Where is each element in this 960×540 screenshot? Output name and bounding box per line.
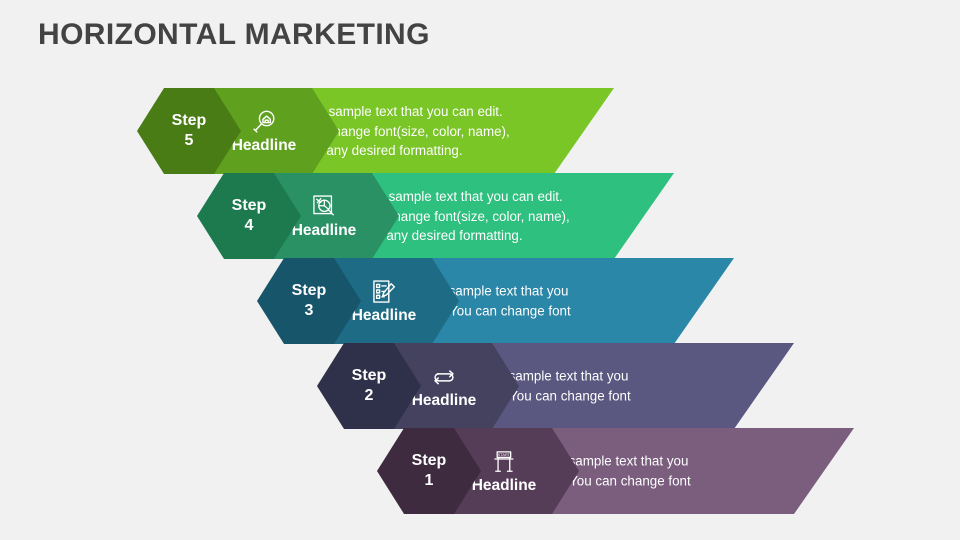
pyramid-diagram: This is a sample text that you can edit.… <box>0 0 960 540</box>
pyramid-row[interactable]: This is a sample text that you can edit.… <box>137 88 614 174</box>
pyramid-row[interactable]: This is a sample text that you can edit.… <box>197 173 674 259</box>
pyramid-row[interactable]: This is a sample text that you can edit.… <box>257 258 734 344</box>
pyramid-row[interactable]: This is a sample text that you can edit.… <box>377 428 854 514</box>
slide-canvas: HORIZONTAL MARKETING This is a sample te… <box>0 0 960 540</box>
pyramid-row[interactable]: This is a sample text that you can edit.… <box>317 343 794 429</box>
